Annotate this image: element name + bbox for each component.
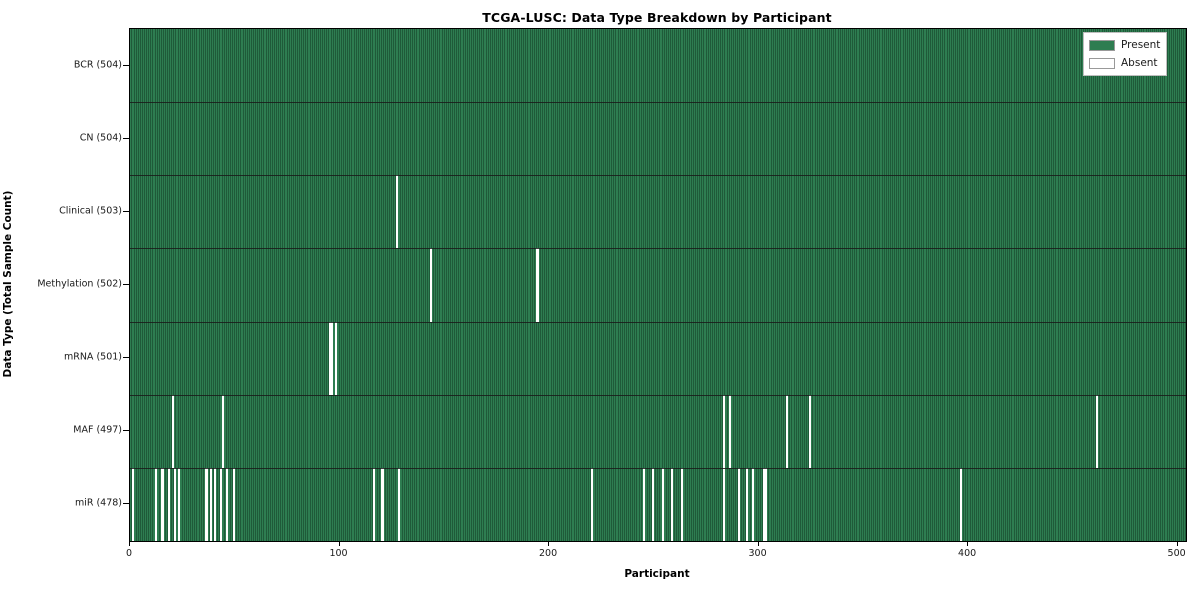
heatmap-cell-divider: [850, 102, 851, 175]
heatmap-cell-divider: [557, 395, 558, 468]
heatmap-cell-divider: [414, 248, 415, 321]
heatmap-cell-divider: [1083, 248, 1084, 321]
heatmap-cell-divider: [978, 29, 979, 102]
heatmap-cell-divider: [146, 322, 147, 395]
heatmap-cell-divider: [368, 29, 369, 102]
heatmap-cell-divider: [823, 175, 824, 248]
heatmap-cell-divider: [335, 248, 336, 321]
heatmap-cell-divider: [1003, 29, 1004, 102]
heatmap-cell-divider: [295, 29, 296, 102]
heatmap-cell-divider: [326, 468, 327, 541]
heatmap-cell-divider: [896, 468, 897, 541]
heatmap-cell-divider: [890, 468, 891, 541]
heatmap-cell-divider: [724, 248, 725, 321]
heatmap-cell-divider: [911, 395, 912, 468]
heatmap-cell-divider: [362, 248, 363, 321]
heatmap-cell-divider: [479, 395, 480, 468]
heatmap-cell-divider: [553, 29, 554, 102]
heatmap-cell-divider: [416, 248, 417, 321]
heatmap-cell-divider: [460, 102, 461, 175]
heatmap-cell-divider: [1018, 29, 1019, 102]
heatmap-cell-divider: [1167, 102, 1168, 175]
heatmap-cell-divider: [875, 322, 876, 395]
heatmap-cell-divider: [773, 395, 774, 468]
x-tick-label: 300: [748, 548, 766, 559]
heatmap-cell-divider: [771, 29, 772, 102]
heatmap-cell-divider: [312, 175, 313, 248]
heatmap-cell-divider: [817, 29, 818, 102]
heatmap-cell-divider: [810, 468, 811, 541]
heatmap-cell-divider: [377, 322, 378, 395]
heatmap-cell-divider: [850, 395, 851, 468]
heatmap-cell-divider: [720, 175, 721, 248]
heatmap-cell-divider: [1018, 175, 1019, 248]
heatmap-cell-divider: [257, 395, 258, 468]
heatmap-cell-divider: [982, 102, 983, 175]
heatmap-cell-divider: [536, 468, 537, 541]
heatmap-cell-divider: [230, 248, 231, 321]
heatmap-cell-divider: [657, 468, 658, 541]
heatmap-cell-divider: [846, 395, 847, 468]
heatmap-cell-divider: [488, 322, 489, 395]
heatmap-cell-divider: [442, 175, 443, 248]
heatmap-cell-divider: [752, 322, 753, 395]
heatmap-cell-divider: [882, 29, 883, 102]
heatmap-cell-divider: [802, 102, 803, 175]
heatmap-cell-divider: [884, 29, 885, 102]
heatmap-cell-divider: [1079, 468, 1080, 541]
heatmap-cell-divider: [1169, 468, 1170, 541]
legend-item[interactable]: Present: [1089, 37, 1160, 53]
heatmap-cell-absent: [430, 248, 432, 321]
heatmap-cell-divider: [609, 29, 610, 102]
heatmap-cell-divider: [475, 102, 476, 175]
heatmap-cell-divider: [569, 102, 570, 175]
heatmap-cell-divider: [1020, 248, 1021, 321]
heatmap-cell-divider: [1049, 175, 1050, 248]
heatmap-cell-divider: [1026, 29, 1027, 102]
heatmap-cell-divider: [406, 322, 407, 395]
heatmap-cell-divider: [710, 102, 711, 175]
heatmap-cell-divider: [155, 395, 156, 468]
heatmap-cell-divider: [504, 322, 505, 395]
heatmap-cell-divider: [391, 175, 392, 248]
heatmap-cell-divider: [148, 175, 149, 248]
heatmap-cell-divider: [877, 322, 878, 395]
heatmap-cell-divider: [846, 468, 847, 541]
heatmap-cell-divider: [886, 395, 887, 468]
heatmap-cell-divider: [500, 102, 501, 175]
heatmap-cell-divider: [421, 248, 422, 321]
heatmap-cell-absent: [786, 395, 788, 468]
heatmap-cell-divider: [645, 395, 646, 468]
heatmap-cell-divider: [833, 175, 834, 248]
heatmap-cell-divider: [1173, 102, 1174, 175]
heatmap-cell-divider: [349, 322, 350, 395]
heatmap-cell-divider: [310, 175, 311, 248]
heatmap-cell-divider: [471, 468, 472, 541]
heatmap-cell-divider: [1070, 29, 1071, 102]
heatmap-cell-divider: [452, 322, 453, 395]
heatmap-cell-divider: [540, 468, 541, 541]
heatmap-cell-divider: [706, 468, 707, 541]
heatmap-cell-divider: [305, 248, 306, 321]
heatmap-cell-divider: [326, 322, 327, 395]
heatmap-cell-divider: [1093, 468, 1094, 541]
heatmap-plot-area: [129, 28, 1187, 542]
heatmap-cell-divider: [624, 29, 625, 102]
heatmap-cell-divider: [463, 468, 464, 541]
heatmap-cell-divider: [1051, 29, 1052, 102]
heatmap-cell-divider: [289, 175, 290, 248]
heatmap-cell-divider: [735, 175, 736, 248]
heatmap-cell-divider: [1156, 468, 1157, 541]
heatmap-cell-divider: [278, 468, 279, 541]
heatmap-cell-divider: [634, 175, 635, 248]
heatmap-cell-divider: [775, 248, 776, 321]
heatmap-cell-divider: [479, 102, 480, 175]
heatmap-cell-divider: [747, 175, 748, 248]
heatmap-cell-divider: [370, 175, 371, 248]
heatmap-cell-divider: [961, 29, 962, 102]
heatmap-cell-divider: [1005, 322, 1006, 395]
heatmap-cell-divider: [626, 29, 627, 102]
heatmap-cell-divider: [458, 395, 459, 468]
heatmap-cell-divider: [381, 322, 382, 395]
heatmap-row: [130, 29, 1186, 102]
heatmap-cell-divider: [402, 322, 403, 395]
heatmap-cell-divider: [569, 322, 570, 395]
heatmap-cell-divider: [1099, 102, 1100, 175]
heatmap-cell-divider: [760, 102, 761, 175]
heatmap-cell-divider: [1123, 248, 1124, 321]
heatmap-cell-divider: [333, 395, 334, 468]
heatmap-cell-divider: [965, 248, 966, 321]
heatmap-cell-divider: [406, 248, 407, 321]
heatmap-cell-divider: [354, 468, 355, 541]
heatmap-cell-divider: [1076, 175, 1077, 248]
heatmap-cell-divider: [184, 102, 185, 175]
heatmap-cell-divider: [999, 102, 1000, 175]
heatmap-cell-divider: [205, 175, 206, 248]
heatmap-cell-divider: [852, 102, 853, 175]
heatmap-cell-divider: [423, 322, 424, 395]
heatmap-cell-divider: [590, 29, 591, 102]
heatmap-cell-divider: [781, 248, 782, 321]
legend-item[interactable]: Absent: [1089, 55, 1160, 71]
heatmap-cell-divider: [967, 395, 968, 468]
heatmap-cell-divider: [672, 29, 673, 102]
heatmap-cell-divider: [274, 248, 275, 321]
heatmap-cell-divider: [938, 102, 939, 175]
heatmap-cell-divider: [716, 322, 717, 395]
heatmap-cell-divider: [343, 102, 344, 175]
heatmap-cell-divider: [532, 468, 533, 541]
heatmap-cell-divider: [383, 175, 384, 248]
heatmap-cell-divider: [161, 248, 162, 321]
heatmap-cell-divider: [483, 248, 484, 321]
heatmap-cell-divider: [203, 102, 204, 175]
heatmap-cell-divider: [148, 468, 149, 541]
heatmap-cell-divider: [255, 29, 256, 102]
heatmap-cell-divider: [662, 322, 663, 395]
heatmap-cell-divider: [379, 102, 380, 175]
heatmap-cell-divider: [576, 248, 577, 321]
heatmap-cell-divider: [651, 395, 652, 468]
heatmap-cell-divider: [450, 102, 451, 175]
heatmap-cell-divider: [879, 29, 880, 102]
heatmap-cell-divider: [1039, 248, 1040, 321]
heatmap-cell-divider: [848, 468, 849, 541]
heatmap-cell-divider: [756, 468, 757, 541]
heatmap-cell-divider: [1020, 468, 1021, 541]
heatmap-cell-divider: [1181, 468, 1182, 541]
heatmap-cell-divider: [442, 29, 443, 102]
heatmap-cell-divider: [1028, 175, 1029, 248]
heatmap-cell-divider: [632, 175, 633, 248]
heatmap-cell-divider: [553, 102, 554, 175]
heatmap-cell-divider: [232, 29, 233, 102]
heatmap-cell-divider: [534, 322, 535, 395]
heatmap-cell-divider: [919, 468, 920, 541]
heatmap-cell-divider: [519, 322, 520, 395]
heatmap-cell-divider: [750, 175, 751, 248]
heatmap-cell-divider: [903, 248, 904, 321]
heatmap-cell-divider: [674, 102, 675, 175]
heatmap-cell-divider: [859, 175, 860, 248]
heatmap-cell-divider: [171, 102, 172, 175]
heatmap-cell-divider: [668, 395, 669, 468]
heatmap-cell-divider: [1141, 322, 1142, 395]
heatmap-cell-divider: [1009, 248, 1010, 321]
heatmap-cell-divider: [555, 29, 556, 102]
heatmap-cell-divider: [775, 175, 776, 248]
heatmap-cell-divider: [131, 102, 132, 175]
heatmap-cell-divider: [951, 395, 952, 468]
heatmap-cell-divider: [856, 248, 857, 321]
heatmap-cell-divider: [186, 248, 187, 321]
heatmap-cell-divider: [664, 102, 665, 175]
heatmap-cell-divider: [714, 175, 715, 248]
heatmap-cell-divider: [676, 102, 677, 175]
heatmap-cell-divider: [603, 395, 604, 468]
heatmap-cell-divider: [953, 175, 954, 248]
heatmap-cell-divider: [159, 395, 160, 468]
heatmap-cell-divider: [1154, 102, 1155, 175]
heatmap-cell-divider: [1024, 175, 1025, 248]
heatmap-cell-divider: [429, 395, 430, 468]
heatmap-cell-divider: [1045, 248, 1046, 321]
heatmap-cell-divider: [1064, 29, 1065, 102]
heatmap-cell-divider: [1143, 102, 1144, 175]
heatmap-cell-divider: [735, 102, 736, 175]
heatmap-cell-divider: [710, 175, 711, 248]
heatmap-cell-divider: [559, 322, 560, 395]
heatmap-cell-divider: [1041, 29, 1042, 102]
heatmap-cell-divider: [341, 29, 342, 102]
heatmap-cell-divider: [697, 322, 698, 395]
heatmap-cell-divider: [609, 468, 610, 541]
heatmap-cell-divider: [234, 29, 235, 102]
heatmap-cell-divider: [364, 102, 365, 175]
heatmap-cell-divider: [196, 395, 197, 468]
heatmap-cell-divider: [892, 175, 893, 248]
heatmap-cell-divider: [234, 175, 235, 248]
heatmap-cell-divider: [1129, 468, 1130, 541]
heatmap-cell-divider: [182, 395, 183, 468]
heatmap-cell-divider: [131, 175, 132, 248]
heatmap-cell-divider: [791, 322, 792, 395]
heatmap-cell-divider: [873, 102, 874, 175]
heatmap-cell-divider: [750, 248, 751, 321]
heatmap-cell-divider: [592, 395, 593, 468]
heatmap-cell-divider: [812, 248, 813, 321]
heatmap-row: [130, 175, 1186, 248]
heatmap-cell-divider: [580, 29, 581, 102]
heatmap-cell-divider: [720, 322, 721, 395]
heatmap-cell-divider: [1053, 102, 1054, 175]
heatmap-cell-divider: [245, 29, 246, 102]
heatmap-cell-divider: [364, 175, 365, 248]
heatmap-cell-divider: [938, 248, 939, 321]
heatmap-cell-divider: [999, 248, 1000, 321]
heatmap-cell-divider: [496, 468, 497, 541]
heatmap-cell-divider: [345, 248, 346, 321]
heatmap-cell-divider: [624, 102, 625, 175]
heatmap-cell-divider: [965, 102, 966, 175]
heatmap-cell-divider: [301, 102, 302, 175]
heatmap-cell-divider: [1060, 468, 1061, 541]
heatmap-cell-divider: [173, 248, 174, 321]
heatmap-cell-divider: [827, 175, 828, 248]
heatmap-cell-divider: [425, 322, 426, 395]
heatmap-cell-divider: [232, 322, 233, 395]
heatmap-cell-divider: [595, 248, 596, 321]
heatmap-cell-divider: [787, 248, 788, 321]
heatmap-cell-divider: [1045, 29, 1046, 102]
heatmap-cell-divider: [557, 175, 558, 248]
heatmap-cell-divider: [817, 468, 818, 541]
heatmap-cell-divider: [768, 102, 769, 175]
heatmap-cell-divider: [643, 29, 644, 102]
heatmap-cell-divider: [532, 29, 533, 102]
heatmap-cell-divider: [1026, 468, 1027, 541]
heatmap-cell-divider: [804, 468, 805, 541]
heatmap-cell-divider: [942, 29, 943, 102]
heatmap-cell-divider: [1114, 322, 1115, 395]
heatmap-cell-divider: [1087, 395, 1088, 468]
heatmap-cell-divider: [727, 29, 728, 102]
heatmap-cell-divider: [620, 102, 621, 175]
heatmap-cell-divider: [571, 248, 572, 321]
heatmap-cell-divider: [431, 468, 432, 541]
heatmap-cell-divider: [1024, 322, 1025, 395]
heatmap-cell-divider: [1007, 102, 1008, 175]
heatmap-cell-divider: [219, 322, 220, 395]
heatmap-cell-divider: [754, 29, 755, 102]
heatmap-cell-divider: [588, 29, 589, 102]
heatmap-cell-divider: [1173, 395, 1174, 468]
heatmap-cell-divider: [511, 248, 512, 321]
heatmap-cell-divider: [155, 322, 156, 395]
heatmap-cell-divider: [863, 248, 864, 321]
heatmap-cell-divider: [134, 322, 135, 395]
heatmap-cell-divider: [337, 468, 338, 541]
heatmap-cell-divider: [1030, 322, 1031, 395]
heatmap-cell-divider: [222, 248, 223, 321]
heatmap-cell-divider: [1037, 248, 1038, 321]
heatmap-cell-divider: [873, 395, 874, 468]
heatmap-cell-divider: [1158, 102, 1159, 175]
heatmap-cell-divider: [995, 175, 996, 248]
heatmap-cell-divider: [201, 175, 202, 248]
heatmap-cell-divider: [278, 29, 279, 102]
heatmap-cell-divider: [284, 175, 285, 248]
heatmap-cell-divider: [821, 322, 822, 395]
heatmap-cell-divider: [1123, 468, 1124, 541]
heatmap-cell-divider: [655, 468, 656, 541]
heatmap-cell-divider: [152, 322, 153, 395]
heatmap-cell-divider: [775, 322, 776, 395]
heatmap-cell-divider: [716, 102, 717, 175]
heatmap-cell-divider: [1112, 395, 1113, 468]
page-title: TCGA-LUSC: Data Type Breakdown by Partic…: [129, 10, 1185, 25]
heatmap-cell-divider: [1125, 395, 1126, 468]
heatmap-cell-divider: [354, 322, 355, 395]
heatmap-cell-divider: [842, 175, 843, 248]
heatmap-cell-divider: [240, 29, 241, 102]
heatmap-cell-divider: [829, 322, 830, 395]
heatmap-cell-divider: [410, 395, 411, 468]
heatmap-cell-divider: [282, 248, 283, 321]
heatmap-cell-divider: [817, 248, 818, 321]
heatmap-cell-divider: [303, 395, 304, 468]
heatmap-cell-divider: [421, 29, 422, 102]
heatmap-cell-divider: [865, 102, 866, 175]
heatmap-cell-divider: [349, 248, 350, 321]
heatmap-cell-divider: [607, 395, 608, 468]
heatmap-cell-divider: [398, 248, 399, 321]
heatmap-cell-divider: [276, 248, 277, 321]
heatmap-cell-divider: [525, 175, 526, 248]
heatmap-cell-divider: [228, 395, 229, 468]
heatmap-cell-divider: [1032, 248, 1033, 321]
heatmap-cell-divider: [884, 322, 885, 395]
heatmap-cell-divider: [884, 248, 885, 321]
heatmap-cell-divider: [488, 248, 489, 321]
heatmap-cell-divider: [249, 322, 250, 395]
heatmap-cell-divider: [534, 175, 535, 248]
heatmap-cell-divider: [630, 29, 631, 102]
heatmap-cell-divider: [699, 248, 700, 321]
heatmap-cell-divider: [951, 29, 952, 102]
heatmap-cell-divider: [349, 29, 350, 102]
heatmap-cell-divider: [1116, 468, 1117, 541]
heatmap-cell-divider: [949, 395, 950, 468]
heatmap-cell-divider: [268, 175, 269, 248]
heatmap-cell-divider: [867, 322, 868, 395]
heatmap-cell-divider: [291, 322, 292, 395]
heatmap-cell-divider: [611, 248, 612, 321]
heatmap-cell-divider: [442, 248, 443, 321]
heatmap-cell-divider: [1146, 175, 1147, 248]
heatmap-cell-divider: [1133, 248, 1134, 321]
heatmap-cell-divider: [1177, 248, 1178, 321]
heatmap-cell-divider: [898, 322, 899, 395]
heatmap-row-separator: [130, 322, 1186, 323]
heatmap-cell-divider: [1081, 468, 1082, 541]
heatmap-cell-divider: [768, 322, 769, 395]
